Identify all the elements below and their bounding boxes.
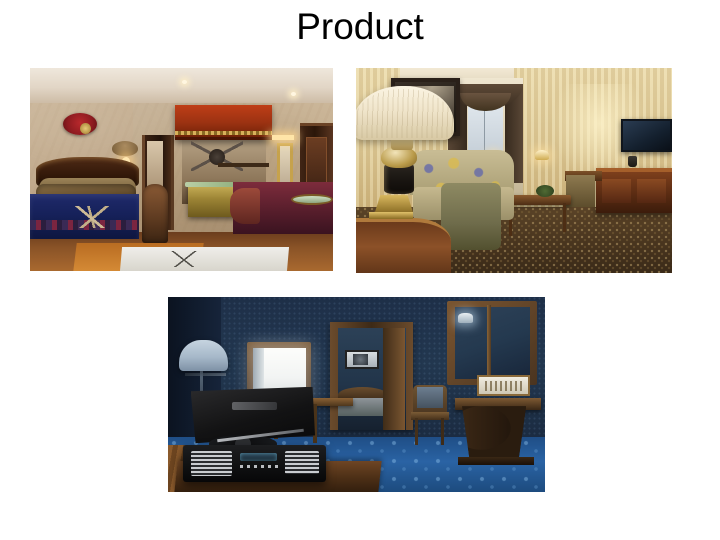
floor-lamp-icon-right: [535, 150, 549, 160]
bedroom-scene: [30, 68, 333, 271]
coffee-table-leg-right: [563, 203, 566, 232]
blue-room-photo[interactable]: [168, 297, 545, 492]
lamp-base: [375, 195, 413, 212]
wall-hat-decor: [112, 141, 138, 156]
slide-canvas: Product: [0, 0, 720, 540]
player-display: [240, 453, 278, 461]
candle-sconce-icon: [272, 135, 294, 140]
ceiling-light-icon: [182, 80, 187, 84]
framed-art-content: [485, 381, 523, 391]
page-title: Product: [0, 4, 720, 50]
lamp-plinth: [369, 212, 413, 219]
speaker-grille-left: [191, 451, 232, 476]
player-control-knobs[interactable]: [240, 465, 281, 468]
lamp-arm-horizontal: [185, 373, 226, 376]
sofa-arm: [230, 188, 260, 225]
coffee-table: [505, 195, 571, 205]
door-leaf: [383, 328, 406, 429]
wall-shelf: [218, 163, 270, 167]
console-table-foot: [458, 457, 533, 465]
chair-upholstered-back: [417, 387, 443, 408]
coffee-pot: [628, 156, 637, 167]
turntable-lid-badge: [232, 402, 277, 410]
classic-suite-photo[interactable]: [356, 68, 672, 273]
blueroom-scene: [168, 297, 545, 492]
sideboard-panel-right: [637, 179, 665, 204]
console-table-support: [462, 406, 526, 461]
ceiling: [30, 68, 333, 103]
marble-table-engraving: [163, 251, 205, 267]
sideboard-panel-left: [602, 179, 630, 204]
side-table: [291, 194, 333, 205]
leather-chair-back: [142, 184, 168, 243]
suite-scene: [356, 68, 672, 273]
chair-leg-left: [415, 418, 418, 445]
speaker-grille-right: [285, 451, 319, 474]
foreground-round-table: [356, 218, 451, 273]
ornate-bedroom-photo[interactable]: [30, 68, 333, 271]
wall-plate-center: [80, 123, 91, 134]
potted-plant: [536, 185, 554, 197]
mirror-post: [487, 305, 491, 379]
antler-decor: [63, 206, 121, 228]
valance-trim: [175, 131, 272, 135]
wall-sconce-icon: [458, 313, 473, 323]
chair-leg-right: [441, 418, 444, 445]
television: [621, 119, 672, 152]
picture-content: [353, 354, 368, 366]
